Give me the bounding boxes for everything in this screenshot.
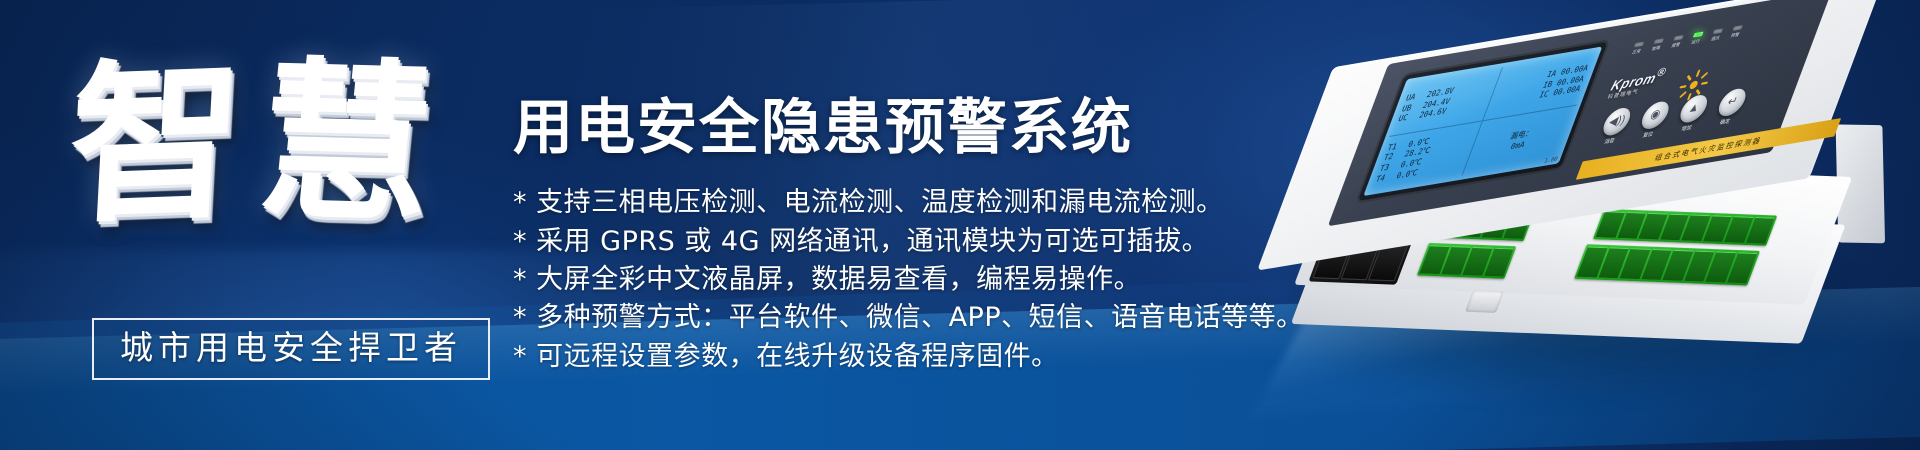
lcd-key: UC	[1397, 111, 1417, 124]
led-lamp-icon	[1654, 38, 1664, 44]
tagline-box: 城市用电安全捍卫者	[92, 318, 490, 380]
feature-item: * 可远程设置参数，在线升级设备程序固件。	[513, 338, 1343, 376]
feature-item: * 支持三相电压检测、电流检测、温度检测和漏电流检测。	[513, 184, 1343, 222]
led-lamp-icon	[1713, 28, 1723, 34]
lcd-temperature-cell: T1 0.0℃ T2 28.2℃ T3 0.0℃	[1369, 121, 1483, 191]
lcd-key: IC	[1531, 89, 1551, 102]
reset-button[interactable]: ◉复位	[1634, 100, 1672, 141]
reset-icon: ◉	[1638, 100, 1673, 131]
calligraphy-char-hui: 慧	[252, 55, 444, 232]
terminal-block	[1574, 244, 1760, 285]
led-lamp-icon	[1693, 32, 1703, 38]
lcd-key: T4	[1374, 171, 1394, 184]
led-lamp-icon	[1634, 42, 1644, 48]
increase-button[interactable]: ▲增加	[1673, 93, 1711, 134]
promo-banner: 智 慧 城市用电安全捍卫者 用电安全隐患预警系统 * 支持三相电压检测、电流检测…	[0, 0, 1920, 450]
calligraphy-title: 智 慧	[70, 18, 490, 268]
tagline-text: 城市用电安全捍卫者	[120, 329, 462, 367]
headline: 用电安全隐患预警系统	[513, 95, 1343, 162]
feature-item: * 采用 GPRS 或 4G 网络通讯，通讯模块为可选可插拔。	[513, 223, 1343, 261]
copy-block: 用电安全隐患预警系统 * 支持三相电压检测、电流检测、温度检测和漏电流检测。 *…	[513, 95, 1343, 376]
led-lamp-icon	[1673, 35, 1683, 41]
calligraphy-char-zhi: 智	[65, 54, 250, 232]
terminal-block	[1417, 243, 1517, 279]
led-lamp-icon	[1732, 25, 1742, 31]
feature-item: * 大屏全彩中文液晶屏，数据易查看，编程易操作。	[513, 261, 1343, 299]
lcd-corner-label: 1.00	[1543, 156, 1558, 165]
feature-item: * 多种预警方式：平台软件、微信、APP、短信、语音电话等等。	[513, 299, 1343, 337]
feature-list: * 支持三相电压检测、电流检测、温度检测和漏电流检测。 * 采用 GPRS 或 …	[513, 184, 1343, 376]
triangle-up-icon: ▲	[1676, 93, 1711, 124]
product-image: 1 2 3 电源输入 检测信号	[1284, 18, 1904, 418]
